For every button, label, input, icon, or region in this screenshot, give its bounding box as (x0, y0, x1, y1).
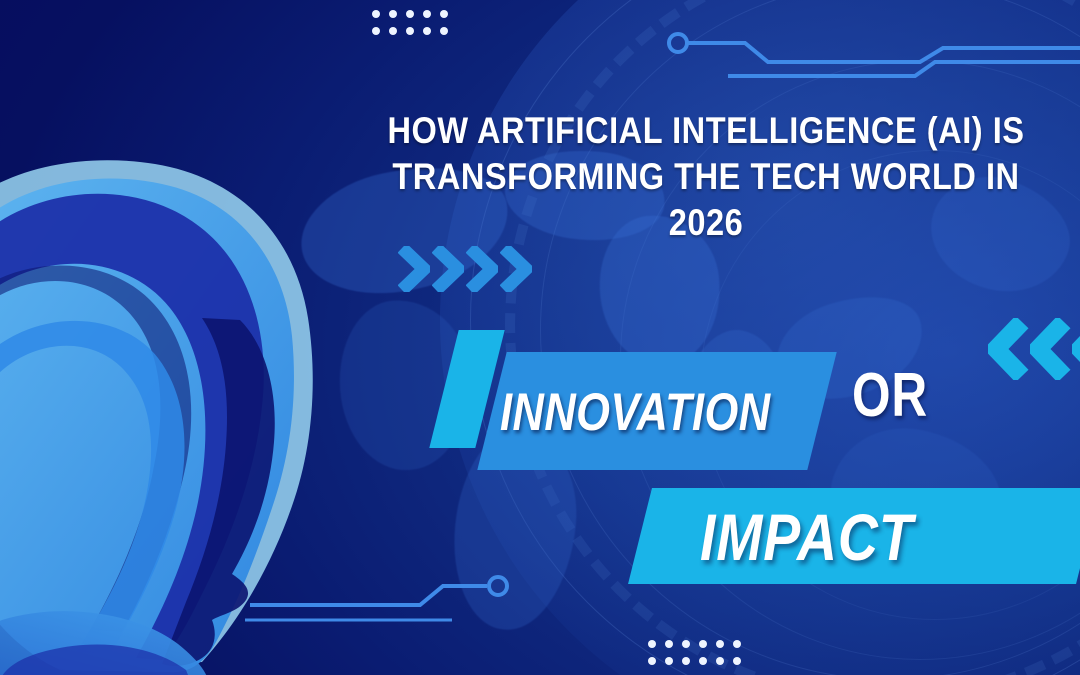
chevron-right-icon (398, 246, 430, 292)
chevron-right-icon (500, 246, 532, 292)
dot (733, 657, 741, 665)
dot (716, 657, 724, 665)
chevron-right-icon (432, 246, 464, 292)
dot-grid-bottom (648, 640, 741, 665)
dot (389, 27, 397, 35)
chevron-right-icon (466, 246, 498, 292)
dot (648, 640, 656, 648)
dot (682, 657, 690, 665)
chevron-right-group (398, 246, 532, 292)
dot (406, 27, 414, 35)
dot (440, 10, 448, 18)
circuit-node-top (669, 34, 687, 52)
chevron-left-icon (1030, 318, 1072, 380)
dot (372, 27, 380, 35)
innovation-label: INNOVATION (500, 362, 771, 462)
ai-head-illustration (0, 150, 370, 675)
dot (716, 640, 724, 648)
dot (665, 657, 673, 665)
chevron-left-icon (1072, 318, 1080, 380)
dot (423, 10, 431, 18)
chevron-left-group (988, 318, 1080, 380)
dot (699, 657, 707, 665)
dot-grid-top (372, 10, 448, 35)
dot (665, 640, 673, 648)
dot (699, 640, 707, 648)
dot (440, 27, 448, 35)
ai-poster: HOW ARTIFICIAL INTELLIGENCE (AI) IS TRAN… (0, 0, 1080, 675)
impact-label: IMPACT (700, 492, 1019, 582)
chevron-left-icon (988, 318, 1030, 380)
dot (423, 27, 431, 35)
page-title: HOW ARTIFICIAL INTELLIGENCE (AI) IS TRAN… (375, 108, 1037, 246)
dot (682, 640, 690, 648)
dot (648, 657, 656, 665)
circuit-node-bottom (489, 577, 507, 595)
dot (406, 10, 414, 18)
dot (389, 10, 397, 18)
dot (733, 640, 741, 648)
dot (372, 10, 380, 18)
conjunction-label: OR (852, 360, 928, 431)
